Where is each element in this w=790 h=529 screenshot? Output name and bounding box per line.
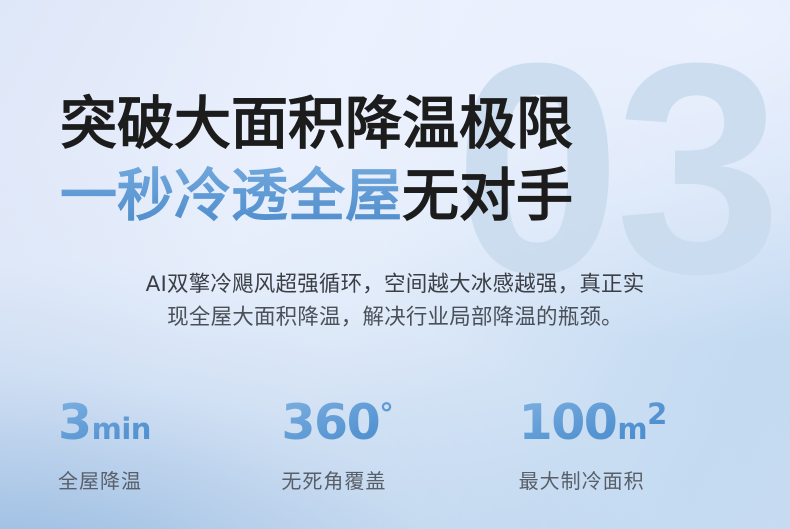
description-text: AI双擎冷飓风超强循环，空间越大冰感越强，真正实 现全屋大面积降温，解决行业局部…	[0, 268, 790, 334]
stat-unit: m	[617, 415, 647, 444]
stat-item-max-area: 100m2 最大制冷面积	[519, 398, 742, 494]
stat-superscript: °	[379, 400, 394, 429]
stat-item-coverage-angle: 360° 无死角覆盖	[281, 398, 518, 494]
stats-row: 3min 全屋降温 360° 无死角覆盖 100m2 最大制冷面积	[58, 398, 742, 494]
description-line-2: 现全屋大面积降温，解决行业局部降温的瓶颈。	[58, 301, 732, 334]
description-line-1: AI双擎冷飓风超强循环，空间越大冰感越强，真正实	[58, 268, 732, 301]
stat-item-cooling-time: 3min 全屋降温	[58, 398, 281, 494]
headline-line-2: 一秒冷透全屋无对手	[60, 160, 573, 232]
page-title: 突破大面积降温极限 一秒冷透全屋无对手	[60, 88, 573, 232]
stat-number: 100	[519, 398, 617, 447]
stat-value: 3min	[58, 398, 281, 447]
stat-number: 360	[281, 398, 379, 447]
stat-superscript: 2	[647, 400, 667, 429]
headline-line-1: 突破大面积降温极限	[60, 88, 573, 160]
headline-line-2-dark: 无对手	[402, 163, 573, 229]
promo-banner: 03 突破大面积降温极限 一秒冷透全屋无对手 AI双擎冷飓风超强循环，空间越大冰…	[0, 0, 790, 529]
stat-number: 3	[58, 398, 91, 447]
headline-line-2-accent: 一秒冷透全屋	[60, 163, 402, 229]
stat-unit: min	[92, 415, 151, 444]
stat-label: 全屋降温	[58, 465, 281, 494]
stat-label: 最大制冷面积	[519, 465, 742, 494]
stat-value: 100m2	[519, 398, 742, 447]
stat-label: 无死角覆盖	[281, 465, 518, 494]
content-area: 突破大面积降温极限 一秒冷透全屋无对手 AI双擎冷飓风超强循环，空间越大冰感越强…	[0, 0, 790, 529]
stat-value: 360°	[281, 398, 518, 447]
